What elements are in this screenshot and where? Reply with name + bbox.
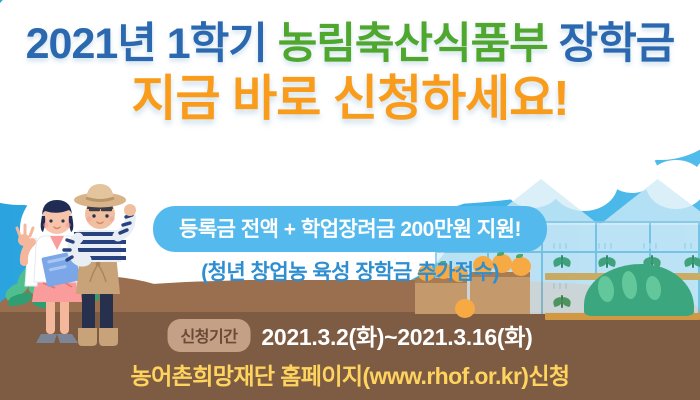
headline-ministry: 농림축산식품부 <box>278 20 548 68</box>
application-period-row: 신청기간 2021.3.2(화)~2021.3.16(화) <box>168 318 533 352</box>
headline-year-term: 2021년 1학기 <box>26 20 267 68</box>
period-dates-text: 2021.3.2(화)~2021.3.16(화) <box>261 318 532 352</box>
scholarship-banner: 2021년 1학기 농림축산식품부 장학금 지금 바로 신청하세요! 등록금 전… <box>0 0 700 400</box>
farmer-characters-illustration <box>10 178 150 350</box>
headline-block: 2021년 1학기 농림축산식품부 장학금 지금 바로 신청하세요! <box>0 22 700 126</box>
headline-scholarship: 장학금 <box>559 20 675 68</box>
period-label-badge: 신청기간 <box>168 319 251 352</box>
woman-researcher <box>17 200 89 343</box>
website-line: 농어촌희망재단 홈페이지(www.rhof.or.kr)신청 <box>131 357 570 391</box>
headline-line-2: 지금 바로 신청하세요! <box>0 74 700 126</box>
benefit-pill-badge: 등록금 전액 + 학업장려금 200만원 지원! <box>153 206 547 252</box>
sub-note-text: (청년 창업농 육성 장학금 추가접수) <box>201 256 499 286</box>
headline-line-1: 2021년 1학기 농림축산식품부 장학금 <box>0 22 700 68</box>
